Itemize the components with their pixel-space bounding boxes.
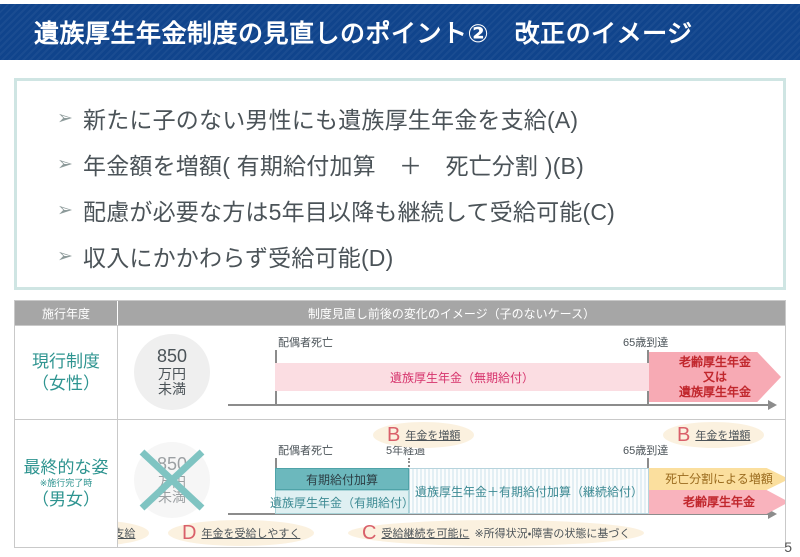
list-item: ➢ 年金額を増額( 有期給付加算 ＋ 死亡分割 )(B) [57, 141, 783, 187]
list-item: ➢ 収入にかかわらず受給可能(D) [57, 233, 783, 279]
callout-suffix: ※所得状況・障害の状態に基づく [474, 525, 630, 541]
arrow-bullet-icon: ➢ [57, 201, 83, 220]
row-label-line2: （女性） [32, 373, 100, 394]
page-title: 遺族厚生年金制度の見直しのポイント② 改正のイメージ [34, 14, 693, 50]
row-label-current-system: 現行制度 （女性） [15, 326, 118, 419]
callout-text: 男女ともに支給 [118, 525, 135, 541]
arrow-bullet-icon: ➢ [57, 155, 83, 174]
list-item: ➢ 配慮が必要な方は5年目以降も継続して受給可能(C) [57, 187, 783, 233]
timeline-axis [228, 404, 768, 406]
bullet-list-box: ➢ 新たに子のない男性にも遺族厚生年金を支給(A) ➢ 年金額を増額( 有期給付… [14, 78, 786, 290]
income-threshold-circle: 850 万円 未満 [134, 334, 210, 410]
row-label-line1: 現行制度 [32, 351, 100, 372]
marker-label-spouse-death: 配偶者死亡 [278, 442, 333, 458]
row-label-note: ※施行完了時 [40, 478, 93, 489]
callout-letter: C [362, 523, 376, 543]
circle-line3: 未満 [158, 490, 186, 505]
bar-survivor-pension-fixed-term: 遺族厚生年金（有期給付） [275, 490, 409, 514]
slide-root: 遺族厚生年金制度の見直しのポイント② 改正のイメージ ➢ 新たに子のない男性にも… [0, 0, 800, 557]
arrow-label-line3: 遺族厚生年金 [679, 385, 751, 400]
marker-label-age65: 65歳到達 [623, 334, 668, 350]
circle-line2: 万円 [158, 367, 186, 382]
table-row-current-system: 現行制度 （女性） 850 万円 未満 配偶者死亡 65歳到達 [15, 325, 785, 419]
callout-text: 年金を増額 [405, 427, 460, 443]
bar-old-age-or-survivor-pension: 老齢厚生年金 又は 遺族厚生年金 [649, 352, 781, 402]
bullet-text: 新たに子のない男性にも遺族厚生年金を支給(A) [83, 101, 578, 135]
circle-line2: 万円 [158, 475, 186, 490]
row-body-current-system: 850 万円 未満 配偶者死亡 65歳到達 遺族厚生年金（無期給付） [118, 326, 785, 419]
bar-survivor-pension-indefinite: 遺族厚生年金（無期給付） [275, 363, 649, 391]
bar-old-age-pension: 老齢厚生年金 [649, 490, 785, 514]
column-header-change-image: 制度見直し前後の変化のイメージ（子のないケース） [118, 301, 785, 325]
row-label-line2: （男女） [32, 489, 100, 510]
income-threshold-circle-abolished: 850 万円 未満 [134, 442, 210, 518]
callout-c-continued-receipt: C 受給継続を可能に ※所得状況・障害の状態に基づく [348, 520, 644, 546]
callout-letter: D [182, 523, 196, 543]
bar-fixed-term-supplement: 有期給付加算 [275, 468, 409, 490]
row-body-final-form: 850 万円 未満 配偶者死亡 5年経過 6 [118, 420, 785, 547]
circle-line1: 850 [157, 455, 187, 474]
row-label-line1: 最終的な姿 [24, 457, 109, 478]
bar-death-split-increase: 死亡分割による増額 [649, 468, 785, 490]
bar-continued-payment: 遺族厚生年金＋有期給付加算（継続給付） [409, 468, 649, 514]
table-header-row: 施行年度 制度見直し前後の変化のイメージ（子のないケース） [15, 301, 785, 325]
row-label-final-form: 最終的な姿 ※施行完了時 （男女） [15, 420, 118, 547]
callout-letter: B [677, 425, 690, 445]
bullet-text: 収入にかかわらず受給可能(D) [83, 239, 393, 273]
bullet-text: 配慮が必要な方は5年目以降も継続して受給可能(C) [83, 193, 615, 227]
column-header-enforcement-year: 施行年度 [15, 301, 118, 325]
callout-text: 年金を増額 [695, 427, 750, 443]
circle-line3: 未満 [158, 382, 186, 397]
list-item: ➢ 新たに子のない男性にも遺族厚生年金を支給(A) [57, 95, 783, 141]
arrow-bullet-icon: ➢ [57, 109, 83, 128]
comparison-table: 施行年度 制度見直し前後の変化のイメージ（子のないケース） 現行制度 （女性） … [14, 300, 786, 548]
marker-label-spouse-death: 配偶者死亡 [278, 334, 333, 350]
page-number: 5 [784, 539, 792, 555]
bullet-text: 年金額を増額( 有期給付加算 ＋ 死亡分割 )(B) [83, 147, 584, 181]
callout-text: 受給継続を可能に [381, 525, 469, 541]
callout-a-both-sexes: A 男女ともに支給 [118, 520, 149, 546]
arrow-label-line2: 又は [679, 370, 751, 385]
timeline-arrow-head-icon [768, 400, 777, 410]
callout-b-increase-right: B 年金を増額 [663, 422, 764, 448]
callout-d-easier-receipt: D 年金を受給しやすく [168, 520, 314, 546]
arrow-bullet-icon: ➢ [57, 247, 83, 266]
callout-letter: B [387, 425, 400, 445]
table-row-final-form: 最終的な姿 ※施行完了時 （男女） 850 万円 未満 [15, 419, 785, 547]
callout-text: 年金を受給しやすく [201, 525, 300, 541]
circle-line1: 850 [157, 347, 187, 366]
callout-b-increase-left: B 年金を増額 [373, 422, 474, 448]
slide-title-bar: 遺族厚生年金制度の見直しのポイント② 改正のイメージ [0, 4, 800, 60]
marker-label-age65: 65歳到達 [623, 442, 668, 458]
arrow-label-line1: 老齢厚生年金 [679, 355, 751, 370]
